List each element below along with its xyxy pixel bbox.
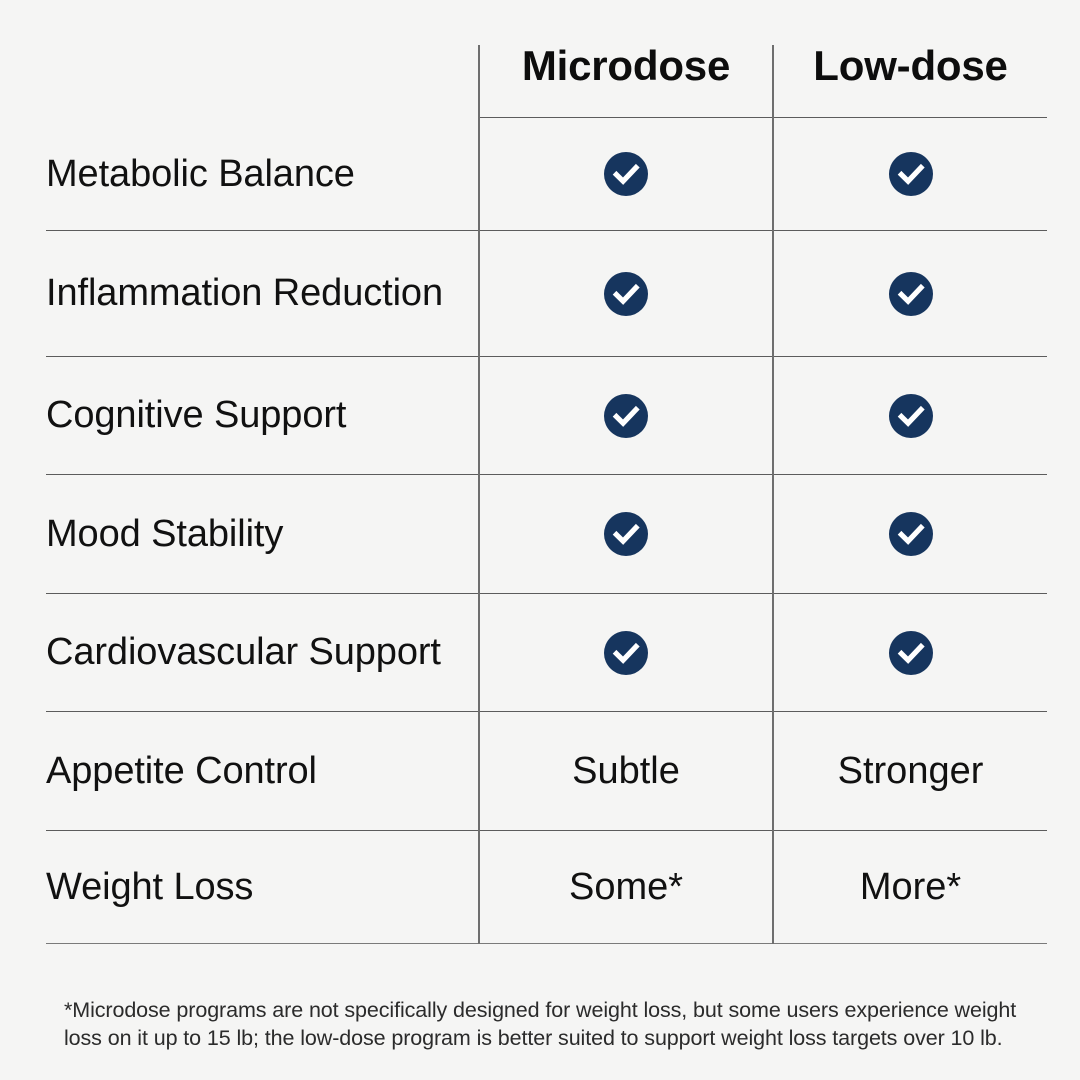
row-microdose-cell [479, 118, 773, 231]
check-circle-icon [604, 272, 648, 316]
row-feature-cell: Appetite Control [46, 712, 479, 831]
check-circle-icon [604, 152, 648, 196]
column-header-lowdose: Low-dose [773, 45, 1047, 118]
table-row: Metabolic Balance [46, 118, 1047, 231]
table-row: Mood Stability [46, 475, 1047, 594]
row-lowdose-cell [773, 594, 1047, 712]
comparison-sheet: Microdose Low-dose Metabolic Balance [0, 0, 1080, 1080]
check-circle-icon [604, 512, 648, 556]
row-feature-label: Cognitive Support [46, 394, 364, 436]
table-row: Appetite Control Subtle Stronger [46, 712, 1047, 831]
row-lowdose-cell [773, 118, 1047, 231]
column-header-microdose-label: Microdose [480, 45, 772, 87]
row-feature-label: Metabolic Balance [46, 153, 373, 195]
row-microdose-cell [479, 475, 773, 594]
table-row: Inflammation Reduction [46, 231, 1047, 357]
column-header-lowdose-label: Low-dose [774, 45, 1047, 87]
check-circle-icon [889, 394, 933, 438]
row-feature-cell: Cardiovascular Support [46, 594, 479, 712]
row-microdose-cell [479, 594, 773, 712]
check-circle-icon [604, 631, 648, 675]
dose-comparison-table: Microdose Low-dose Metabolic Balance [46, 45, 1047, 944]
row-microdose-cell: Subtle [479, 712, 773, 831]
column-header-feature [46, 45, 479, 118]
row-microdose-cell: Some* [479, 831, 773, 944]
row-feature-label: Appetite Control [46, 750, 335, 792]
row-feature-label: Weight Loss [46, 866, 271, 908]
row-lowdose-value: Stronger [838, 750, 984, 792]
row-lowdose-cell: More* [773, 831, 1047, 944]
table-body: Metabolic Balance [46, 118, 1047, 944]
row-feature-cell: Metabolic Balance [46, 118, 479, 231]
row-feature-cell: Cognitive Support [46, 357, 479, 475]
check-circle-icon [889, 272, 933, 316]
row-lowdose-cell [773, 475, 1047, 594]
table-row: Weight Loss Some* More* [46, 831, 1047, 944]
check-circle-icon [889, 631, 933, 675]
row-lowdose-cell [773, 357, 1047, 475]
row-lowdose-cell [773, 231, 1047, 357]
footnote-text: *Microdose programs are not specifically… [64, 996, 1024, 1053]
row-microdose-value: Some* [569, 866, 683, 908]
row-feature-cell: Mood Stability [46, 475, 479, 594]
row-microdose-cell [479, 231, 773, 357]
check-circle-icon [604, 394, 648, 438]
table-row: Cardiovascular Support [46, 594, 1047, 712]
row-microdose-value: Subtle [572, 750, 680, 792]
row-feature-cell: Weight Loss [46, 831, 479, 944]
row-feature-label: Mood Stability [46, 513, 301, 555]
row-lowdose-value: More* [860, 866, 961, 908]
check-circle-icon [889, 152, 933, 196]
row-feature-label: Cardiovascular Support [46, 631, 459, 673]
row-microdose-cell [479, 357, 773, 475]
row-feature-cell: Inflammation Reduction [46, 231, 479, 357]
table-header: Microdose Low-dose [46, 45, 1047, 118]
table-header-row: Microdose Low-dose [46, 45, 1047, 118]
row-feature-label: Inflammation Reduction [46, 272, 461, 314]
table-row: Cognitive Support [46, 357, 1047, 475]
column-header-microdose: Microdose [479, 45, 773, 118]
row-lowdose-cell: Stronger [773, 712, 1047, 831]
check-circle-icon [889, 512, 933, 556]
